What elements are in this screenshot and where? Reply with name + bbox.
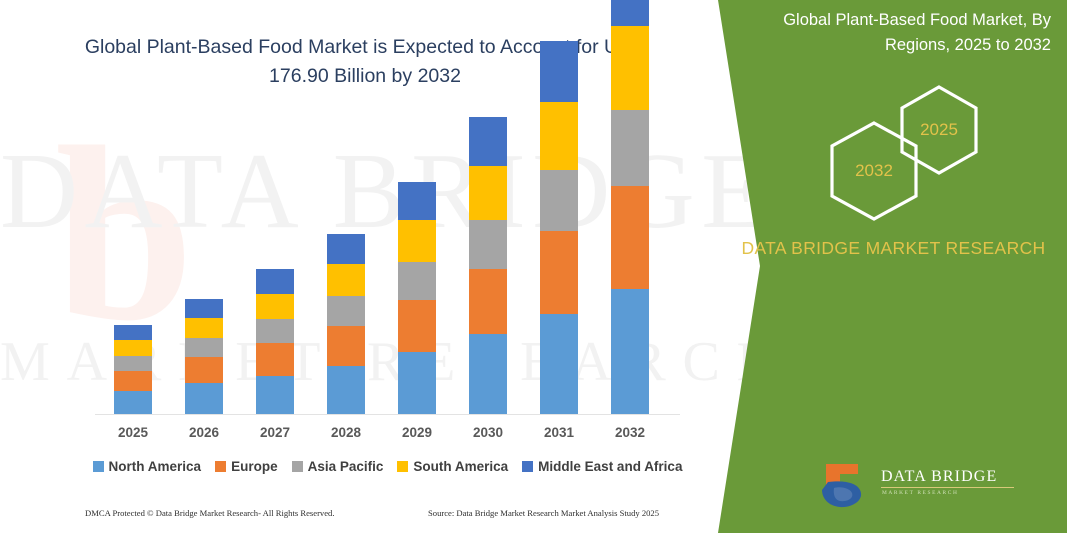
bar-segment bbox=[398, 352, 436, 414]
green-panel-content: Global Plant-Based Food Market, By Regio… bbox=[718, 0, 1067, 533]
bar-segment bbox=[540, 314, 578, 414]
bar-segment bbox=[611, 289, 649, 414]
bar-segment bbox=[256, 294, 294, 320]
bar-2026 bbox=[185, 299, 223, 415]
bar-segment bbox=[327, 264, 365, 296]
x-label-2031: 2031 bbox=[529, 425, 589, 440]
legend-swatch-icon bbox=[215, 461, 226, 472]
bar-2027 bbox=[256, 269, 294, 414]
bar-segment bbox=[256, 269, 294, 293]
legend-item-asia-pacific[interactable]: Asia Pacific bbox=[292, 459, 384, 474]
x-label-2029: 2029 bbox=[387, 425, 447, 440]
legend-swatch-icon bbox=[93, 461, 104, 472]
legend-label: Middle East and Africa bbox=[538, 459, 682, 474]
data-bridge-logo: DATA BRIDGE MARKET RESEARCH bbox=[818, 460, 1033, 512]
legend-swatch-icon bbox=[522, 461, 533, 472]
page-title: Global Plant-Based Food Market is Expect… bbox=[60, 33, 670, 91]
x-label-2030: 2030 bbox=[458, 425, 518, 440]
bar-segment bbox=[540, 41, 578, 102]
hexagon-2032: 2032 bbox=[828, 120, 920, 222]
x-label-2025: 2025 bbox=[103, 425, 163, 440]
legend-label: Europe bbox=[231, 459, 278, 474]
panel-title: Global Plant-Based Food Market, By Regio… bbox=[736, 8, 1051, 58]
bar-segment bbox=[398, 300, 436, 352]
bar-segment bbox=[114, 356, 152, 371]
footer-copyright: DMCA Protected © Data Bridge Market Rese… bbox=[85, 508, 335, 518]
bar-segment bbox=[114, 391, 152, 414]
legend-item-middle-east-and-africa[interactable]: Middle East and Africa bbox=[522, 459, 682, 474]
bar-segment bbox=[256, 319, 294, 343]
bar-segment bbox=[185, 338, 223, 357]
bar-segment bbox=[185, 318, 223, 339]
chart-x-axis-labels: 20252026202720282029203020312032 bbox=[95, 425, 680, 445]
legend-swatch-icon bbox=[292, 461, 303, 472]
legend-item-north-america[interactable]: North America bbox=[93, 459, 202, 474]
logo-mark-icon bbox=[818, 460, 878, 510]
bar-2032 bbox=[611, 0, 649, 414]
legend-label: North America bbox=[109, 459, 202, 474]
bar-2029 bbox=[398, 182, 436, 414]
bar-2028 bbox=[327, 234, 365, 414]
infographic-root: b DATA BRIDGE MARKET RESEARCH Global Pla… bbox=[0, 0, 1067, 533]
bar-segment bbox=[469, 334, 507, 414]
bar-2025 bbox=[114, 325, 152, 414]
bar-segment bbox=[185, 383, 223, 414]
bar-2031 bbox=[540, 41, 578, 414]
bar-segment bbox=[469, 166, 507, 219]
bar-segment bbox=[114, 325, 152, 340]
bar-segment bbox=[185, 299, 223, 318]
bar-segment bbox=[469, 220, 507, 269]
stacked-bar-chart bbox=[95, 120, 680, 415]
bar-segment bbox=[611, 0, 649, 26]
bar-segment bbox=[611, 186, 649, 289]
hexagon-2032-label: 2032 bbox=[828, 120, 920, 222]
bar-segment bbox=[469, 117, 507, 166]
bar-segment bbox=[398, 262, 436, 300]
panel-brand-name: DATA BRIDGE MARKET RESEARCH bbox=[736, 235, 1051, 262]
bar-segment bbox=[398, 182, 436, 220]
logo-divider bbox=[881, 487, 1014, 488]
bar-segment bbox=[611, 110, 649, 186]
bar-segment bbox=[185, 357, 223, 383]
bar-segment bbox=[256, 376, 294, 414]
x-label-2032: 2032 bbox=[600, 425, 660, 440]
legend-label: Asia Pacific bbox=[308, 459, 384, 474]
bar-segment bbox=[114, 340, 152, 356]
bar-segment bbox=[256, 343, 294, 375]
chart-legend: North AmericaEuropeAsia PacificSouth Ame… bbox=[95, 455, 680, 477]
x-label-2028: 2028 bbox=[316, 425, 376, 440]
bar-segment bbox=[327, 326, 365, 366]
logo-title: DATA BRIDGE bbox=[881, 468, 997, 486]
bar-segment bbox=[469, 269, 507, 335]
legend-swatch-icon bbox=[397, 461, 408, 472]
bar-segment bbox=[398, 220, 436, 262]
bar-segment bbox=[540, 170, 578, 231]
bar-segment bbox=[114, 371, 152, 391]
bar-segment bbox=[540, 102, 578, 169]
legend-item-south-america[interactable]: South America bbox=[397, 459, 508, 474]
footer: DMCA Protected © Data Bridge Market Rese… bbox=[0, 508, 700, 528]
bar-segment bbox=[327, 366, 365, 414]
logo-subtitle: MARKET RESEARCH bbox=[882, 490, 958, 496]
bar-segment bbox=[327, 296, 365, 326]
legend-label: South America bbox=[413, 459, 508, 474]
footer-source: Source: Data Bridge Market Research Mark… bbox=[428, 508, 659, 518]
bar-2030 bbox=[469, 117, 507, 414]
x-label-2026: 2026 bbox=[174, 425, 234, 440]
bar-segment bbox=[327, 234, 365, 264]
hexagon-group: 2025 2032 bbox=[718, 78, 1067, 208]
x-label-2027: 2027 bbox=[245, 425, 305, 440]
legend-item-europe[interactable]: Europe bbox=[215, 459, 278, 474]
bar-segment bbox=[540, 231, 578, 314]
chart-axis-line bbox=[95, 414, 680, 415]
bar-segment bbox=[611, 26, 649, 110]
